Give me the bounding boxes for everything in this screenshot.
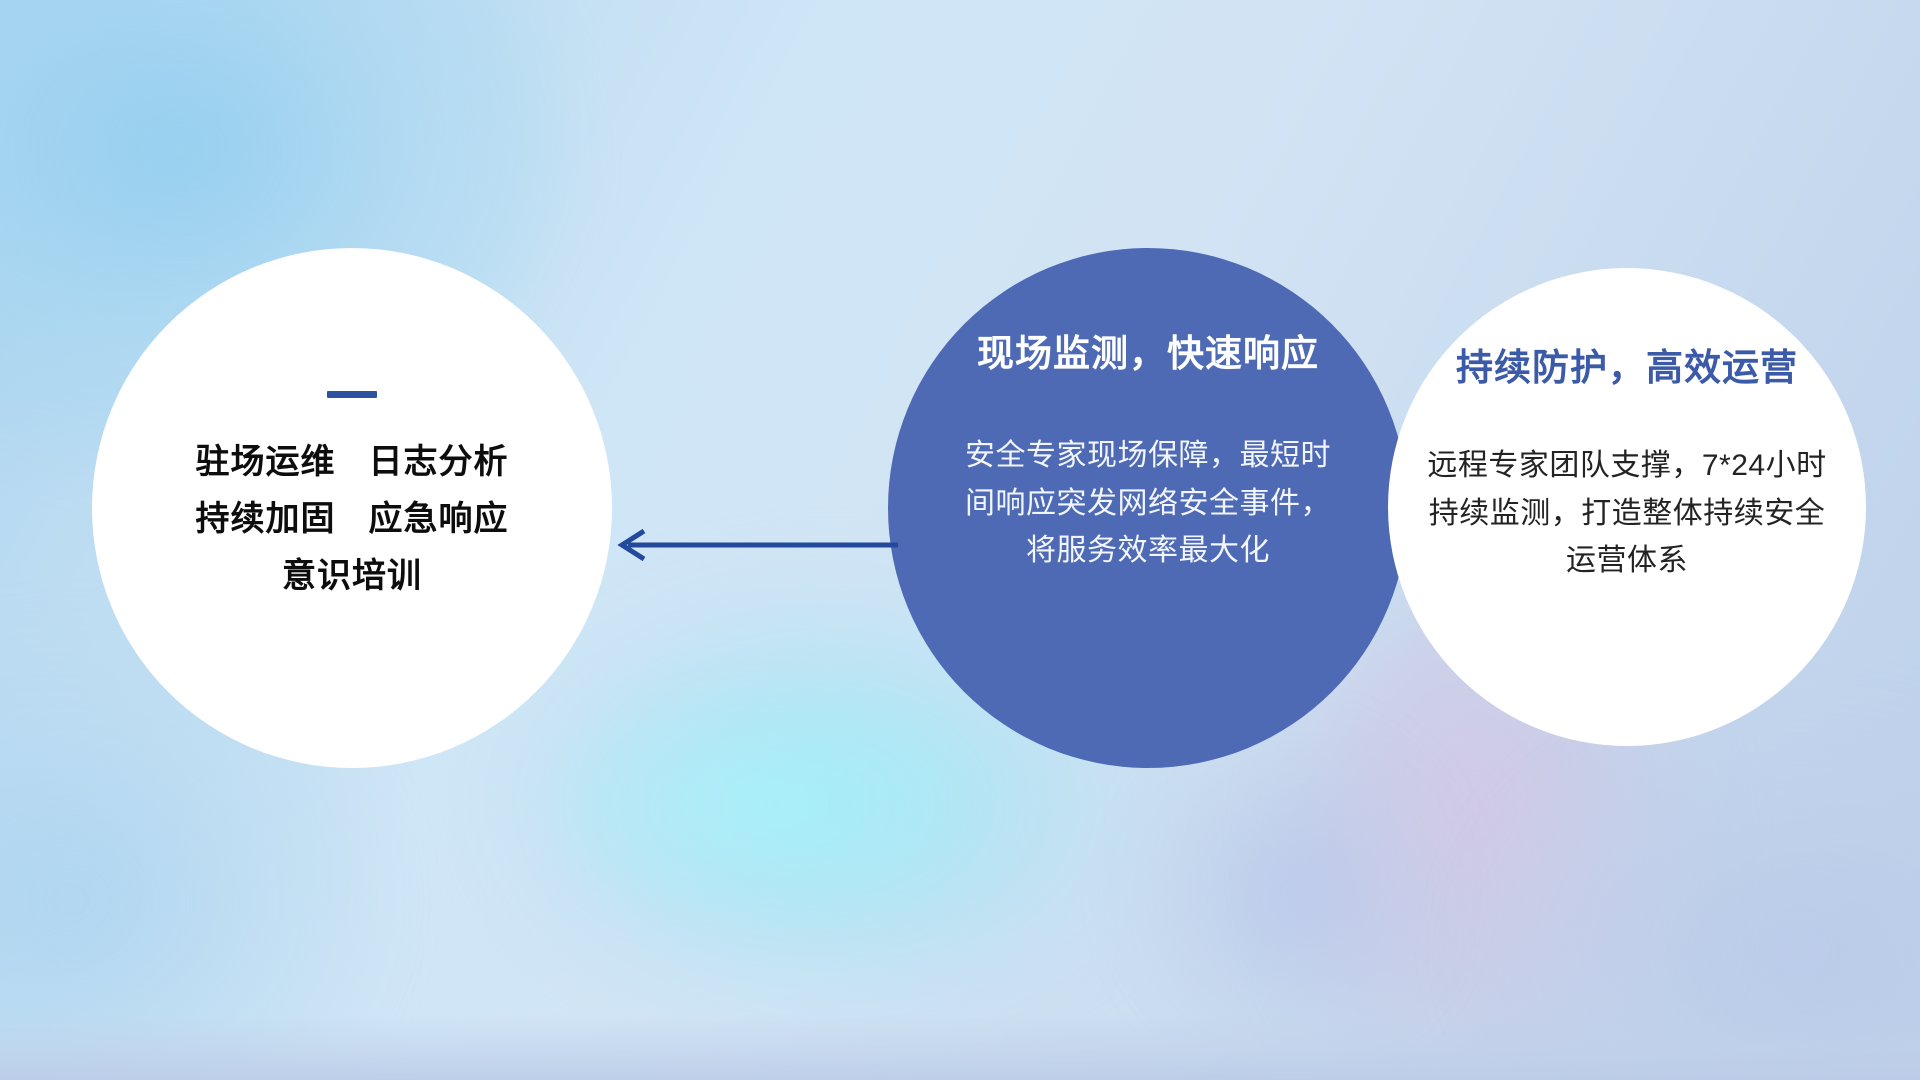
arrow-left-icon [622,531,898,559]
connector-arrow [600,520,900,570]
left-circle-content: 驻场运维 日志分析 持续加固 应急响应 意识培训 [92,248,612,768]
service-tag-list: 驻场运维 日志分析 持续加固 应急响应 意识培训 [196,445,509,593]
background-glow-bottom-right [1480,720,1920,1080]
service-tag: 日志分析 [369,445,509,479]
service-tag: 驻场运维 [196,445,336,479]
middle-circle-content: 现场监测，快速响应 安全专家现场保障，最短时间响应突发网络安全事件，将服务效率最… [888,248,1408,768]
background-glow-periwinkle [1140,740,1440,1040]
horizontal-dash-divider-icon [327,391,377,398]
service-tag: 意识培训 [282,559,422,593]
service-tag-row: 持续加固 应急响应 [196,502,509,536]
slide-canvas: 驻场运维 日志分析 持续加固 应急响应 意识培训 现场监测，快速响应 安全专家现… [0,0,1920,1080]
service-tag-row: 驻场运维 日志分析 [196,445,509,479]
background-bottom-band [0,1014,1920,1080]
right-circle-body: 远程专家团队支撑，7*24小时持续监测，打造整体持续安全运营体系 [1417,442,1837,584]
middle-circle-title: 现场监测，快速响应 [977,332,1319,376]
service-tag: 持续加固 [196,502,336,536]
right-circle-content: 持续防护，高效运营 远程专家团队支撑，7*24小时持续监测，打造整体持续安全运营… [1388,268,1866,746]
middle-circle-body: 安全专家现场保障，最短时间响应突发网络安全事件，将服务效率最大化 [958,432,1338,574]
service-tag-row: 意识培训 [282,559,422,593]
service-tag: 应急响应 [369,502,509,536]
right-circle-title: 持续防护，高效运营 [1456,346,1798,390]
